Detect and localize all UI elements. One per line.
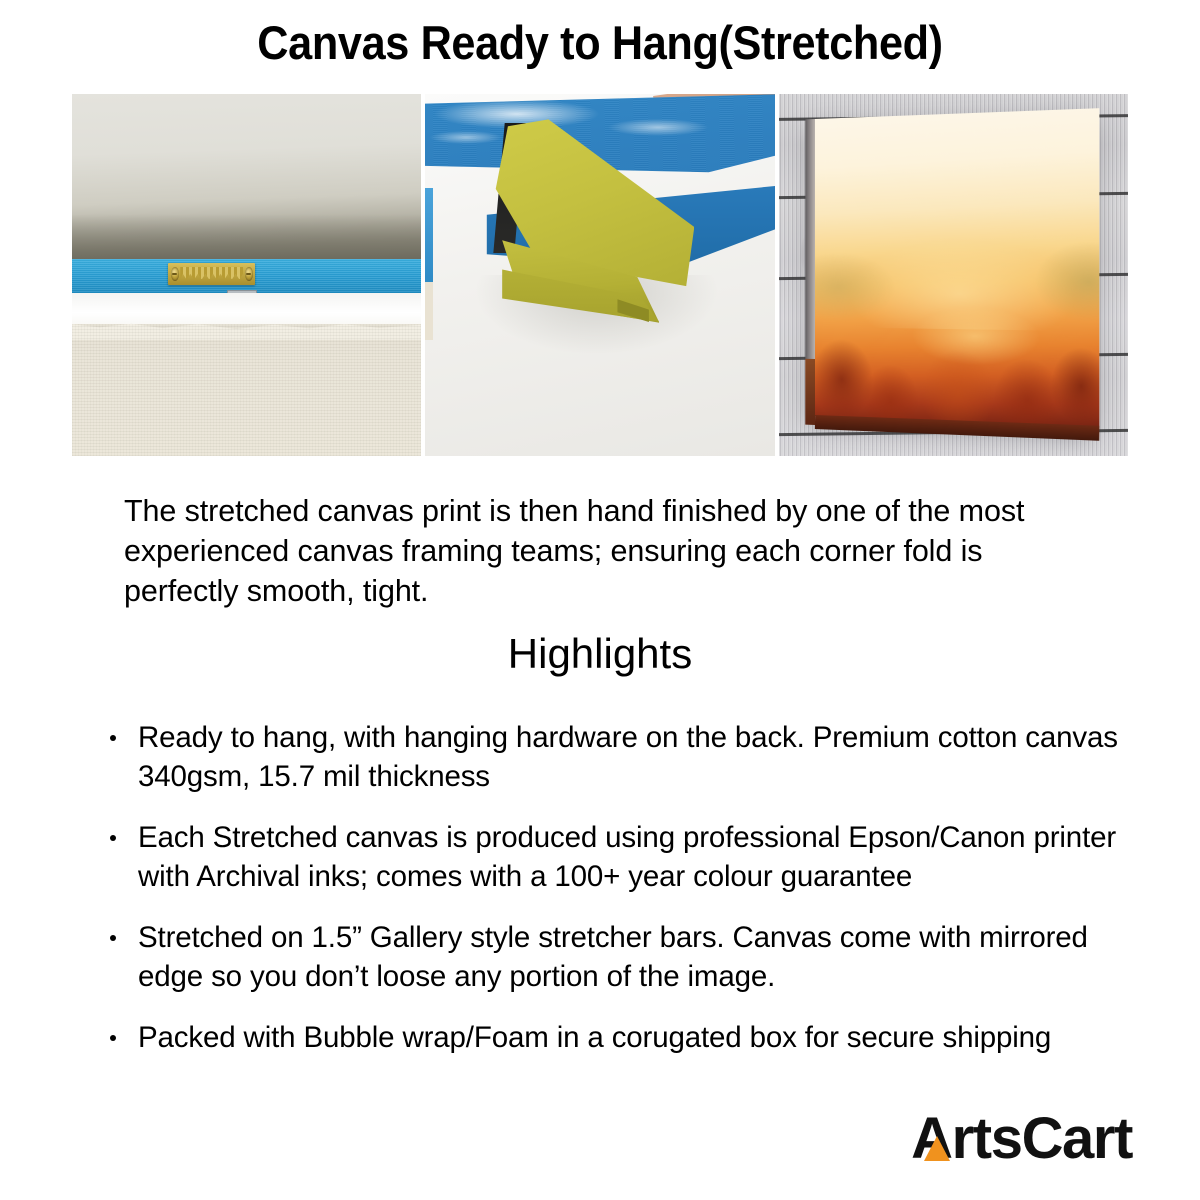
logo-triangle-icon bbox=[924, 1136, 950, 1161]
image-canvas-back-hanger: Back of stretched canvas showing brass s… bbox=[72, 94, 421, 456]
hanger-screw-right bbox=[245, 267, 253, 281]
list-item: Packed with Bubble wrap/Foam in a coruga… bbox=[104, 1018, 1134, 1057]
list-item: Stretched on 1.5” Gallery style stretche… bbox=[104, 918, 1134, 996]
image-canvas-on-wall: Stretched canvas with golden sunset land… bbox=[779, 94, 1128, 456]
image-corner-fold-detail: Close-up of hand finished corner fold on… bbox=[425, 94, 774, 456]
canvas-back-wall bbox=[72, 94, 421, 261]
highlights-heading: Highlights bbox=[0, 630, 1200, 678]
list-item: Ready to hang, with hanging hardware on … bbox=[104, 718, 1134, 796]
canvas-cotton-surface bbox=[72, 324, 421, 456]
product-image-strip: Back of stretched canvas showing brass s… bbox=[72, 94, 1128, 456]
list-item: Each Stretched canvas is produced using … bbox=[104, 818, 1134, 896]
description-paragraph: The stretched canvas print is then hand … bbox=[124, 491, 1074, 611]
canvas-left-side-edge-bottom bbox=[806, 360, 816, 426]
sawtooth-hanger-icon bbox=[168, 263, 255, 285]
canvas-sunset-print bbox=[815, 108, 1100, 427]
product-info-page: Canvas Ready to Hang(Stretched) Back of … bbox=[0, 0, 1200, 1200]
highlights-list: Ready to hang, with hanging hardware on … bbox=[104, 718, 1134, 1079]
page-title: Canvas Ready to Hang(Stretched) bbox=[48, 18, 1152, 67]
corner-fold-left-beige-sliver bbox=[425, 282, 433, 340]
brand-logo: ArtsCart bbox=[911, 1108, 1132, 1170]
corner-fold-left-blue-sliver bbox=[425, 188, 433, 282]
hanger-screw-left bbox=[171, 267, 179, 281]
mounted-canvas bbox=[815, 108, 1100, 427]
